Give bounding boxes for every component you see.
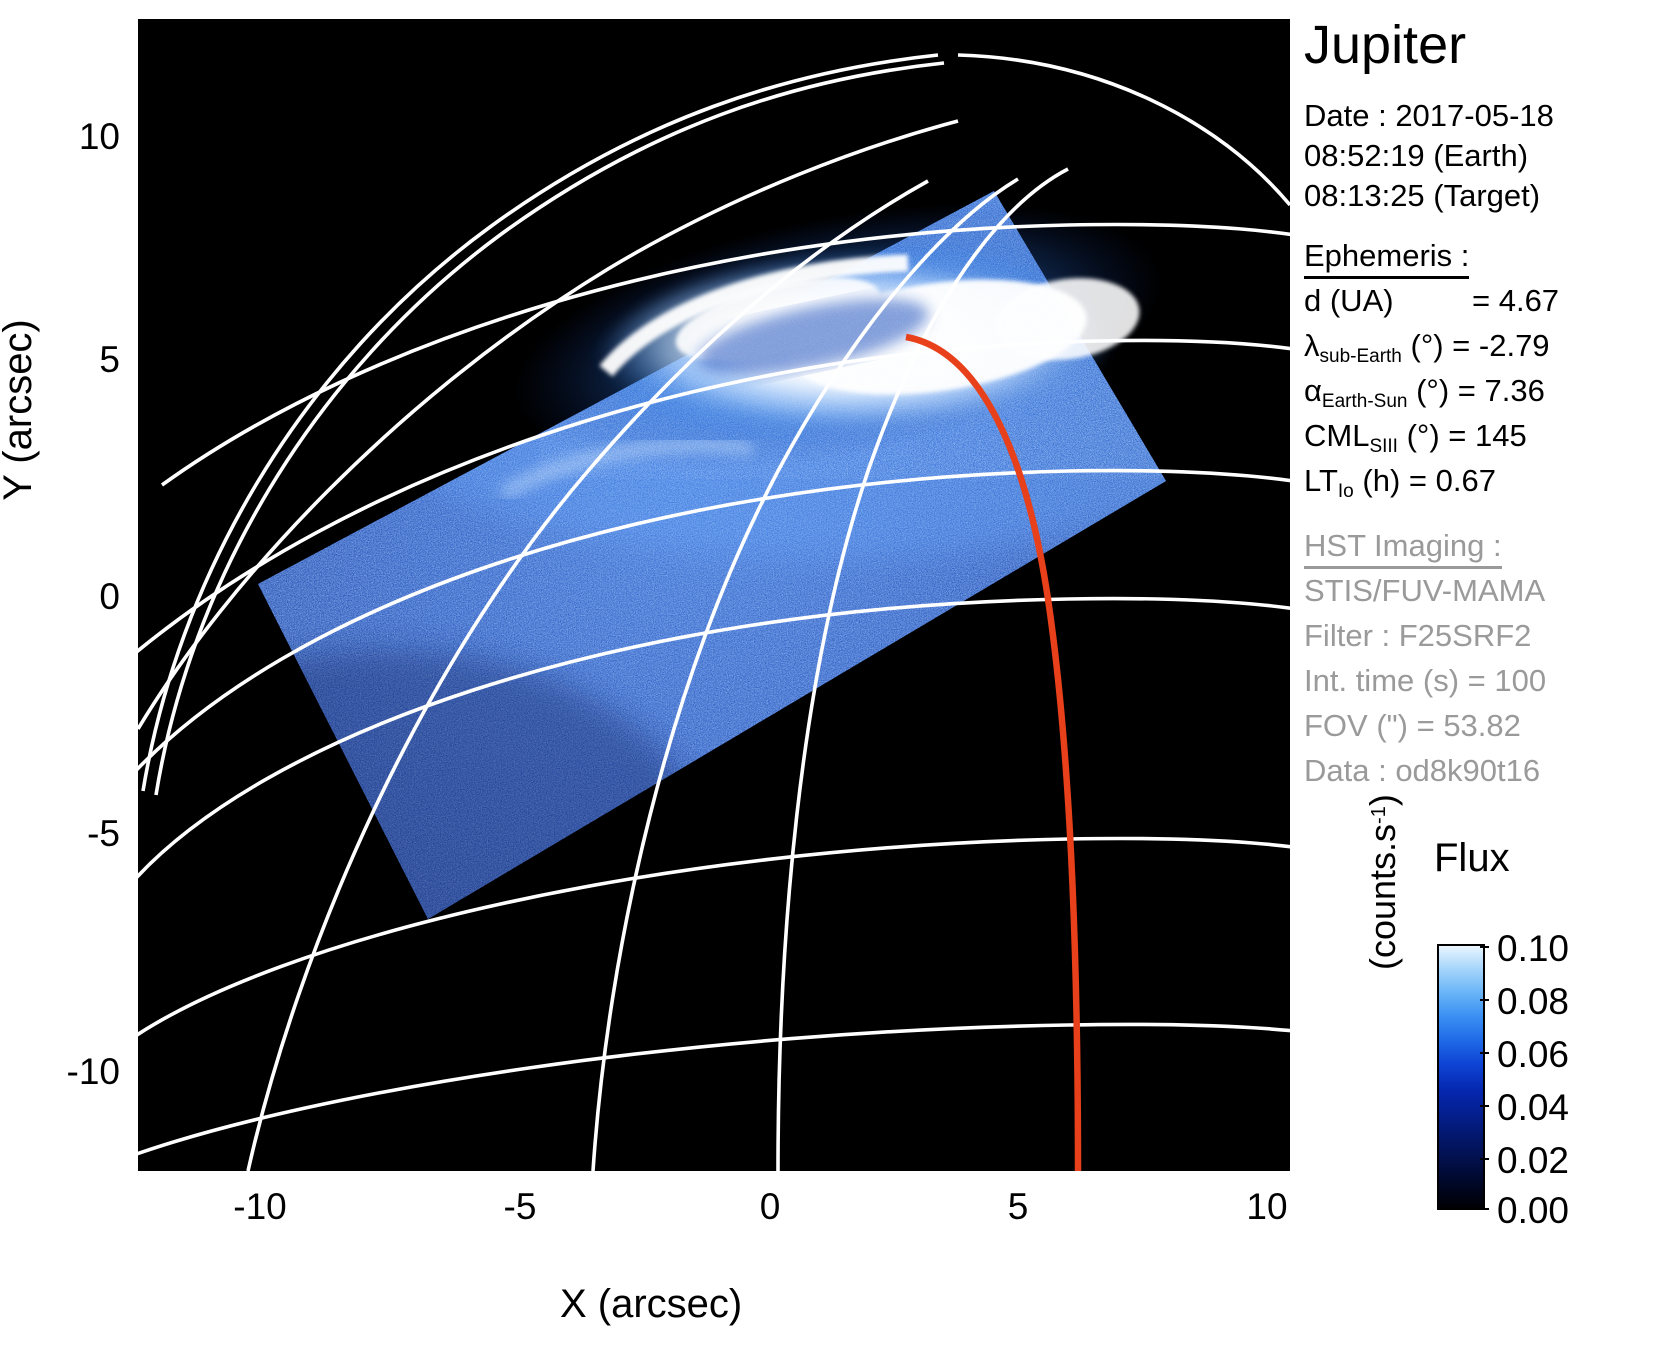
obs-date: Date : 2017-05-18 <box>1304 98 1554 134</box>
ephemeris-distance-value: = 4.67 <box>1472 283 1559 318</box>
colorbar-tick-004 <box>1480 1105 1489 1107</box>
colorbar-label-000: 0.00 <box>1497 1190 1569 1232</box>
colorbar-tick-006 <box>1480 1052 1489 1054</box>
info-panel: Jupiter Date : 2017-05-18 08:52:19 (Eart… <box>1300 0 1676 1367</box>
ephemeris-lambda-value: = -2.79 <box>1452 328 1549 363</box>
ytick-label-10: 10 <box>30 118 120 155</box>
hst-imaging-heading-text: HST Imaging : <box>1304 528 1502 569</box>
y-axis-title: Y (arcsec) <box>0 260 41 560</box>
colorbar-label-002: 0.02 <box>1497 1140 1569 1182</box>
x-axis-title: X (arcsec) <box>560 1282 742 1327</box>
hst-data-id: Data : od8k90t16 <box>1304 753 1540 789</box>
ephemeris-cml-subscript: SIII <box>1369 436 1398 457</box>
colorbar-unit-text: (counts.s <box>1362 824 1403 970</box>
hst-imaging-heading: HST Imaging : <box>1304 528 1502 569</box>
xtick-label-neg10: -10 <box>200 1188 320 1225</box>
ephemeris-lambda-unit: (°) <box>1411 328 1444 363</box>
ytick-label-5: 5 <box>30 341 120 378</box>
ephemeris-alpha-unit: (°) <box>1416 373 1449 408</box>
plot-canvas <box>138 19 1290 1171</box>
hst-filter: Filter : F25SRF2 <box>1304 618 1531 654</box>
ytick-label-neg10: -10 <box>16 1053 120 1090</box>
ephemeris-cml-symbol: CML <box>1304 418 1369 453</box>
hst-fov: FOV (") = 53.82 <box>1304 708 1521 744</box>
ephemeris-heading-text: Ephemeris : <box>1304 238 1469 279</box>
ytick-label-0: 0 <box>30 578 120 615</box>
obs-time-target: 08:13:25 (Target) <box>1304 178 1540 214</box>
ephemeris-distance-symbol: d (UA) <box>1304 283 1472 319</box>
colorbar-label-004: 0.04 <box>1497 1087 1569 1129</box>
ephemeris-cml-unit: (°) <box>1407 418 1440 453</box>
colorbar-tick-010 <box>1480 946 1489 948</box>
ephemeris-lt-subscript: Io <box>1338 481 1354 502</box>
colorbar-label-010: 0.10 <box>1497 928 1569 970</box>
ephemeris-row-cml: CMLSIII (°) = 145 <box>1304 418 1527 454</box>
ephemeris-alpha-subscript: Earth-Sun <box>1322 391 1408 412</box>
colorbar-title: Flux <box>1434 836 1510 881</box>
ephemeris-lt-symbol: LT <box>1304 463 1338 498</box>
ephemeris-lambda-subscript: sub-Earth <box>1320 346 1402 367</box>
ephemeris-row-distance: d (UA)= 4.67 <box>1304 283 1559 319</box>
colorbar-label-008: 0.08 <box>1497 981 1569 1023</box>
colorbar-tick-000 <box>1480 1208 1489 1210</box>
ytick-label-neg5: -5 <box>30 815 120 852</box>
hst-instrument: STIS/FUV-MAMA <box>1304 573 1545 609</box>
ephemeris-lambda-symbol: λ <box>1304 328 1320 363</box>
ephemeris-alpha-symbol: α <box>1304 373 1322 408</box>
colorbar-tick-008 <box>1480 999 1489 1001</box>
hst-int-time: Int. time (s) = 100 <box>1304 663 1546 699</box>
ephemeris-cml-value: = 145 <box>1448 418 1526 453</box>
flux-colorbar <box>1437 944 1485 1210</box>
xtick-label-neg5: -5 <box>460 1188 580 1225</box>
aurora-image-plot <box>138 19 1290 1171</box>
ephemeris-alpha-value: = 7.36 <box>1458 373 1545 408</box>
obs-time-earth: 08:52:19 (Earth) <box>1304 138 1528 174</box>
ephemeris-row-sub-earth-longitude: λsub-Earth (°) = -2.79 <box>1304 328 1550 364</box>
ephemeris-row-io-local-time: LTIo (h) = 0.67 <box>1304 463 1496 499</box>
ephemeris-heading: Ephemeris : <box>1304 238 1469 279</box>
ephemeris-lt-value: = 0.67 <box>1409 463 1496 498</box>
xtick-label-5: 5 <box>958 1188 1078 1225</box>
colorbar-unit-exponent: -1 <box>1368 806 1390 824</box>
ephemeris-lt-unit: (h) <box>1362 463 1400 498</box>
colorbar-label-006: 0.06 <box>1497 1034 1569 1076</box>
xtick-label-0: 0 <box>710 1188 830 1225</box>
colorbar-unit-label: (counts.s-1) <box>1362 690 1404 970</box>
colorbar-unit-paren: ) <box>1362 794 1403 806</box>
page-title: Jupiter <box>1304 14 1466 76</box>
colorbar-tick-002 <box>1480 1158 1489 1160</box>
ephemeris-row-phase-angle: αEarth-Sun (°) = 7.36 <box>1304 373 1545 409</box>
